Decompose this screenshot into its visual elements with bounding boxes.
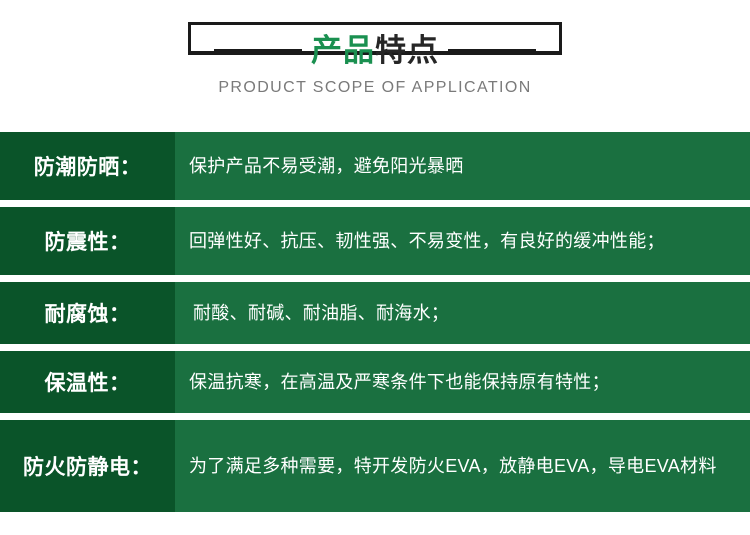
- page-subtitle: PRODUCT SCOPE OF APPLICATION: [0, 78, 750, 98]
- feature-value-moisture-sun: 保护产品不易受潮，避免阳光暴晒: [175, 132, 750, 200]
- page-title-dark: 特点: [375, 33, 439, 68]
- feature-row: 耐腐蚀： 耐酸、耐碱、耐油脂、耐海水；: [0, 282, 750, 344]
- feature-value-insulation: 保温抗寒，在高温及严寒条件下也能保持原有特性；: [175, 351, 750, 413]
- feature-value-fireproof-antistatic: 为了满足多种需要，特开发防火EVA，放静电EVA，导电EVA材料: [175, 420, 750, 512]
- feature-key-moisture-sun: 防潮防晒：: [0, 132, 175, 200]
- feature-value-corrosion-resistant: 耐酸、耐碱、耐油脂、耐海水；: [175, 282, 750, 344]
- feature-key-shockproof: 防震性：: [0, 207, 175, 275]
- page-header: 产品特点 PRODUCT SCOPE OF APPLICATION: [0, 0, 750, 120]
- feature-key-corrosion-resistant: 耐腐蚀：: [0, 282, 175, 344]
- title-rule-right: [448, 49, 536, 52]
- page-title-green: 产品: [311, 33, 375, 68]
- feature-row: 防潮防晒： 保护产品不易受潮，避免阳光暴晒: [0, 132, 750, 200]
- feature-value-text: 保温抗寒，在高温及严寒条件下也能保持原有特性；: [189, 366, 610, 398]
- title-rule-left: [214, 49, 302, 52]
- feature-key-insulation: 保温性：: [0, 351, 175, 413]
- feature-value-text: 耐酸、耐碱、耐油脂、耐海水；: [193, 297, 449, 329]
- feature-row: 防火防静电： 为了满足多种需要，特开发防火EVA，放静电EVA，导电EVA材料: [0, 420, 750, 512]
- feature-key-fireproof-antistatic: 防火防静电：: [0, 420, 175, 512]
- feature-value-text: 为了满足多种需要，特开发防火EVA，放静电EVA，导电EVA材料: [189, 447, 717, 485]
- product-features-page: 产品特点 PRODUCT SCOPE OF APPLICATION 防潮防晒： …: [0, 0, 750, 535]
- feature-value-text: 回弹性好、抗压、韧性强、不易变性，有良好的缓冲性能；: [189, 225, 665, 257]
- page-title: 产品特点: [0, 31, 750, 71]
- feature-list: 防潮防晒： 保护产品不易受潮，避免阳光暴晒 防震性： 回弹性好、抗压、韧性强、不…: [0, 132, 750, 519]
- feature-value-text: 保护产品不易受潮，避免阳光暴晒: [189, 150, 464, 182]
- feature-row: 保温性： 保温抗寒，在高温及严寒条件下也能保持原有特性；: [0, 351, 750, 413]
- feature-row: 防震性： 回弹性好、抗压、韧性强、不易变性，有良好的缓冲性能；: [0, 207, 750, 275]
- feature-value-shockproof: 回弹性好、抗压、韧性强、不易变性，有良好的缓冲性能；: [175, 207, 750, 275]
